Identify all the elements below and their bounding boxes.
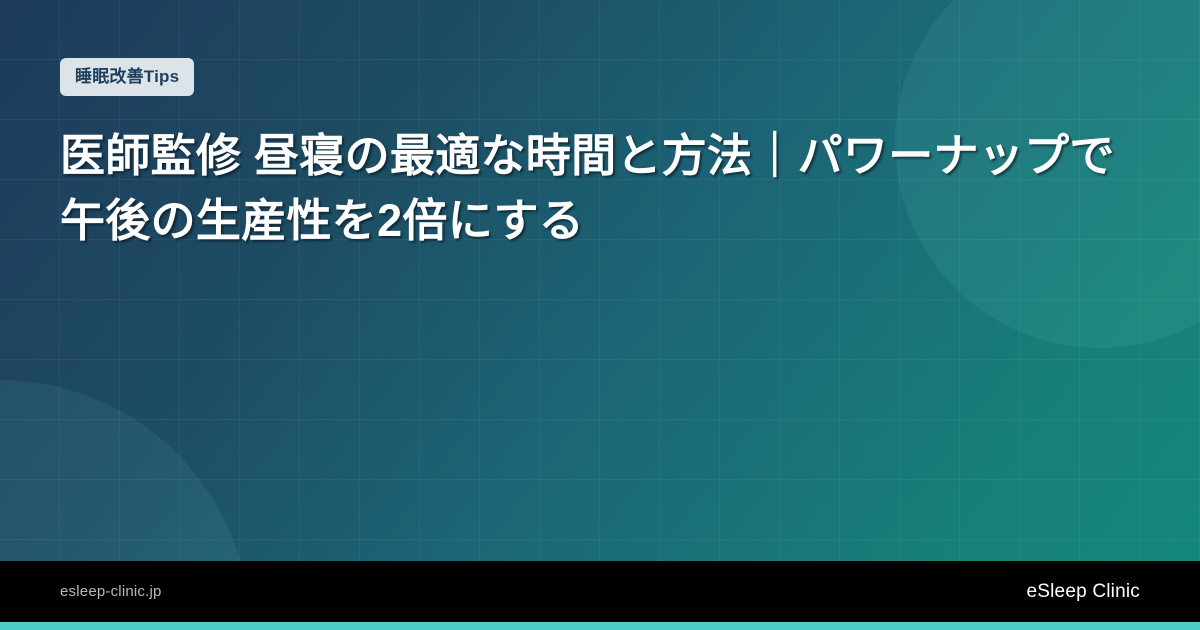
- card-content: 睡眠改善Tips 医師監修 昼寝の最適な時間と方法｜パワーナップで午後の生産性を…: [60, 58, 1140, 254]
- category-badge: 睡眠改善Tips: [60, 58, 194, 96]
- og-image-card: 睡眠改善Tips 医師監修 昼寝の最適な時間と方法｜パワーナップで午後の生産性を…: [0, 0, 1200, 630]
- footer-bar: esleep-clinic.jp eSleep Clinic: [0, 561, 1200, 622]
- footer-accent-bar: [0, 622, 1200, 630]
- footer-domain: esleep-clinic.jp: [60, 583, 162, 600]
- footer-brand-name: eSleep Clinic: [1027, 581, 1141, 603]
- page-title: 医師監修 昼寝の最適な時間と方法｜パワーナップで午後の生産性を2倍にする: [60, 124, 1130, 254]
